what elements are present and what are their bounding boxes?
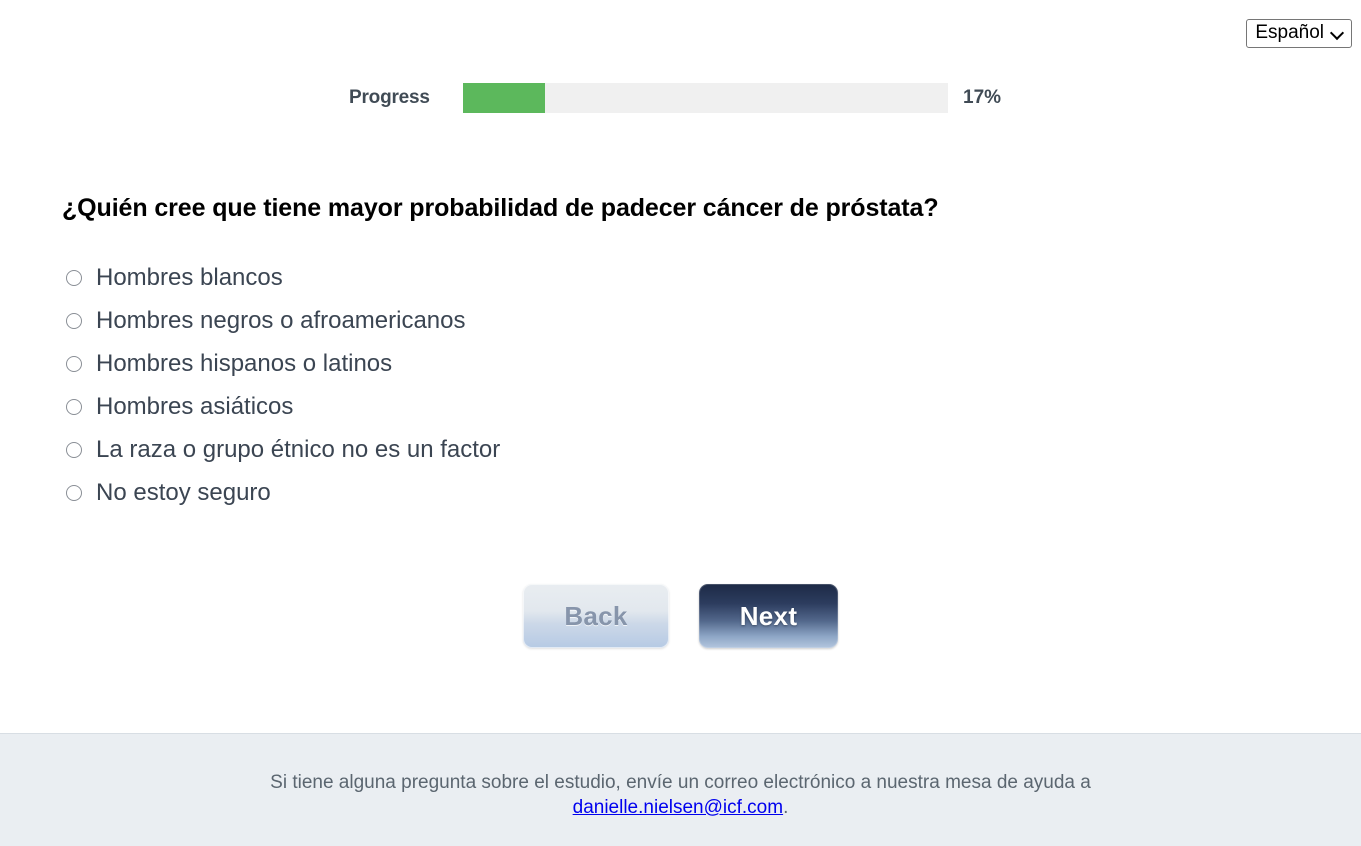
progress-track xyxy=(463,83,948,113)
answer-options-list: Hombres blancosHombres negros o afroamer… xyxy=(62,256,962,514)
chevron-down-icon xyxy=(1331,26,1344,39)
help-desk-email-link[interactable]: danielle.nielsen@icf.com xyxy=(573,797,783,818)
answer-option-label: La raza o grupo étnico no es un factor xyxy=(96,435,500,465)
radio-button-icon[interactable] xyxy=(66,442,82,458)
progress-percent: 17% xyxy=(963,83,1001,113)
answer-option-label: No estoy seguro xyxy=(96,478,271,508)
radio-button-icon[interactable] xyxy=(66,270,82,286)
answer-option[interactable]: La raza o grupo étnico no es un factor xyxy=(62,428,962,471)
progress-label: Progress xyxy=(349,83,449,113)
answer-option[interactable]: No estoy seguro xyxy=(62,471,962,514)
progress-fill xyxy=(463,83,545,113)
answer-option[interactable]: Hombres negros o afroamericanos xyxy=(62,299,962,342)
navigation-buttons: Back Next xyxy=(0,584,1361,650)
language-selector-container: Español xyxy=(1246,19,1352,48)
answer-option[interactable]: Hombres asiáticos xyxy=(62,385,962,428)
language-select-value: Español xyxy=(1255,22,1324,44)
progress-bar-container: Progress 17% xyxy=(0,83,1361,113)
answer-option-label: Hombres hispanos o latinos xyxy=(96,349,392,379)
answer-option[interactable]: Hombres blancos xyxy=(62,256,962,299)
answer-option-label: Hombres asiáticos xyxy=(96,392,293,422)
footer-text-before: Si tiene alguna pregunta sobre el estudi… xyxy=(270,772,1091,793)
radio-button-icon[interactable] xyxy=(66,356,82,372)
footer: Si tiene alguna pregunta sobre el estudi… xyxy=(0,733,1361,846)
next-button[interactable]: Next xyxy=(699,584,838,648)
radio-button-icon[interactable] xyxy=(66,313,82,329)
radio-button-icon[interactable] xyxy=(66,399,82,415)
footer-help-text: Si tiene alguna pregunta sobre el estudi… xyxy=(181,770,1181,820)
question-title: ¿Quién cree que tiene mayor probabilidad… xyxy=(62,191,1302,225)
answer-option[interactable]: Hombres hispanos o latinos xyxy=(62,342,962,385)
radio-button-icon[interactable] xyxy=(66,485,82,501)
answer-option-label: Hombres negros o afroamericanos xyxy=(96,306,466,336)
language-select[interactable]: Español xyxy=(1246,19,1352,48)
answer-option-label: Hombres blancos xyxy=(96,263,283,293)
back-button[interactable]: Back xyxy=(523,584,669,648)
footer-text-after: . xyxy=(783,797,788,818)
